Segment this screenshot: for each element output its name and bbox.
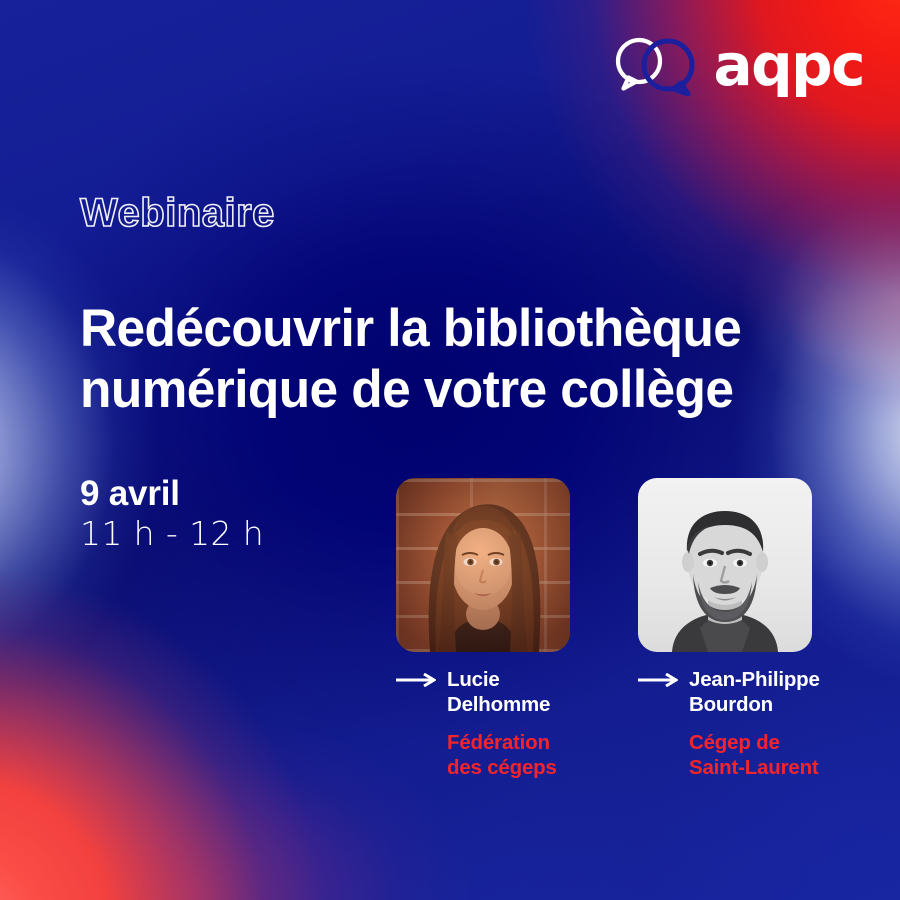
- event-time: 11 h - 12 h: [80, 513, 264, 556]
- speaker-photo-jean-philippe-bourdon: [638, 478, 812, 652]
- arrow-right-icon: [638, 673, 678, 692]
- speaker-photo-lucie-delhomme: [396, 478, 570, 652]
- speaker-name: Jean-Philippe Bourdon: [689, 668, 820, 717]
- event-date: 9 avril: [80, 474, 264, 513]
- eyebrow-label: Webinaire: [80, 191, 275, 236]
- speaker-organization: Cégep de Saint-Laurent: [689, 731, 820, 780]
- speaker-card: Jean-Philippe Bourdon Cégep de Saint-Lau…: [638, 478, 838, 780]
- speaker-name: Lucie Delhomme: [447, 668, 557, 717]
- arrow-right-icon: [396, 673, 436, 692]
- speaker-info: Lucie Delhomme Fédération des cégeps: [396, 668, 596, 780]
- speaker-info: Jean-Philippe Bourdon Cégep de Saint-Lau…: [638, 668, 838, 780]
- page-title: Redécouvrir la bibliothèque numérique de…: [80, 298, 788, 421]
- webinar-promo-poster: aqpc Webinaire Redécouvrir la bibliothèq…: [0, 0, 900, 900]
- speech-bubbles-logo-icon: [609, 34, 705, 96]
- speaker-list: Lucie Delhomme Fédération des cégeps: [396, 478, 838, 780]
- speaker-organization: Fédération des cégeps: [447, 731, 557, 780]
- speaker-card: Lucie Delhomme Fédération des cégeps: [396, 478, 596, 780]
- event-datetime: 9 avril 11 h - 12 h: [80, 474, 264, 556]
- aqpc-logo[interactable]: aqpc: [609, 34, 864, 96]
- aqpc-logo-wordmark: aqpc: [713, 36, 864, 94]
